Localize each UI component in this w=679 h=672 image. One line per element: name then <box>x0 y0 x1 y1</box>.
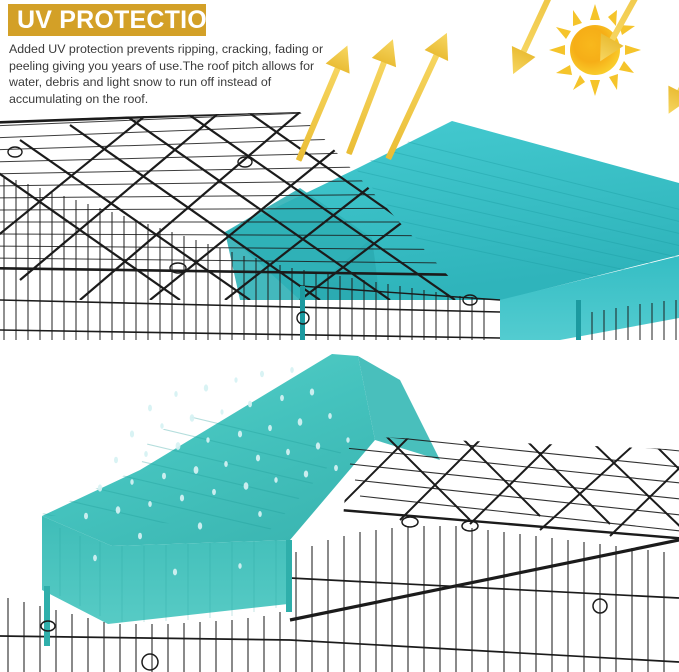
panel-waterproof-cover: WATERPROOF COVER The waterproof cover of… <box>0 340 679 672</box>
incoming-ray-arrow <box>501 0 679 120</box>
uv-protection-banner: UV PROTECTION <box>8 4 206 36</box>
panel-uv-protection: UV PROTECTION Added UV protection preven… <box>0 0 679 340</box>
waterproof-cover-tarp <box>24 354 440 624</box>
uv-protection-description: Added UV protection prevents ripping, cr… <box>9 41 339 107</box>
uv-protection-banner-label: UV PROTECTION <box>17 8 225 33</box>
waterproof-photo-artwork <box>0 340 679 672</box>
